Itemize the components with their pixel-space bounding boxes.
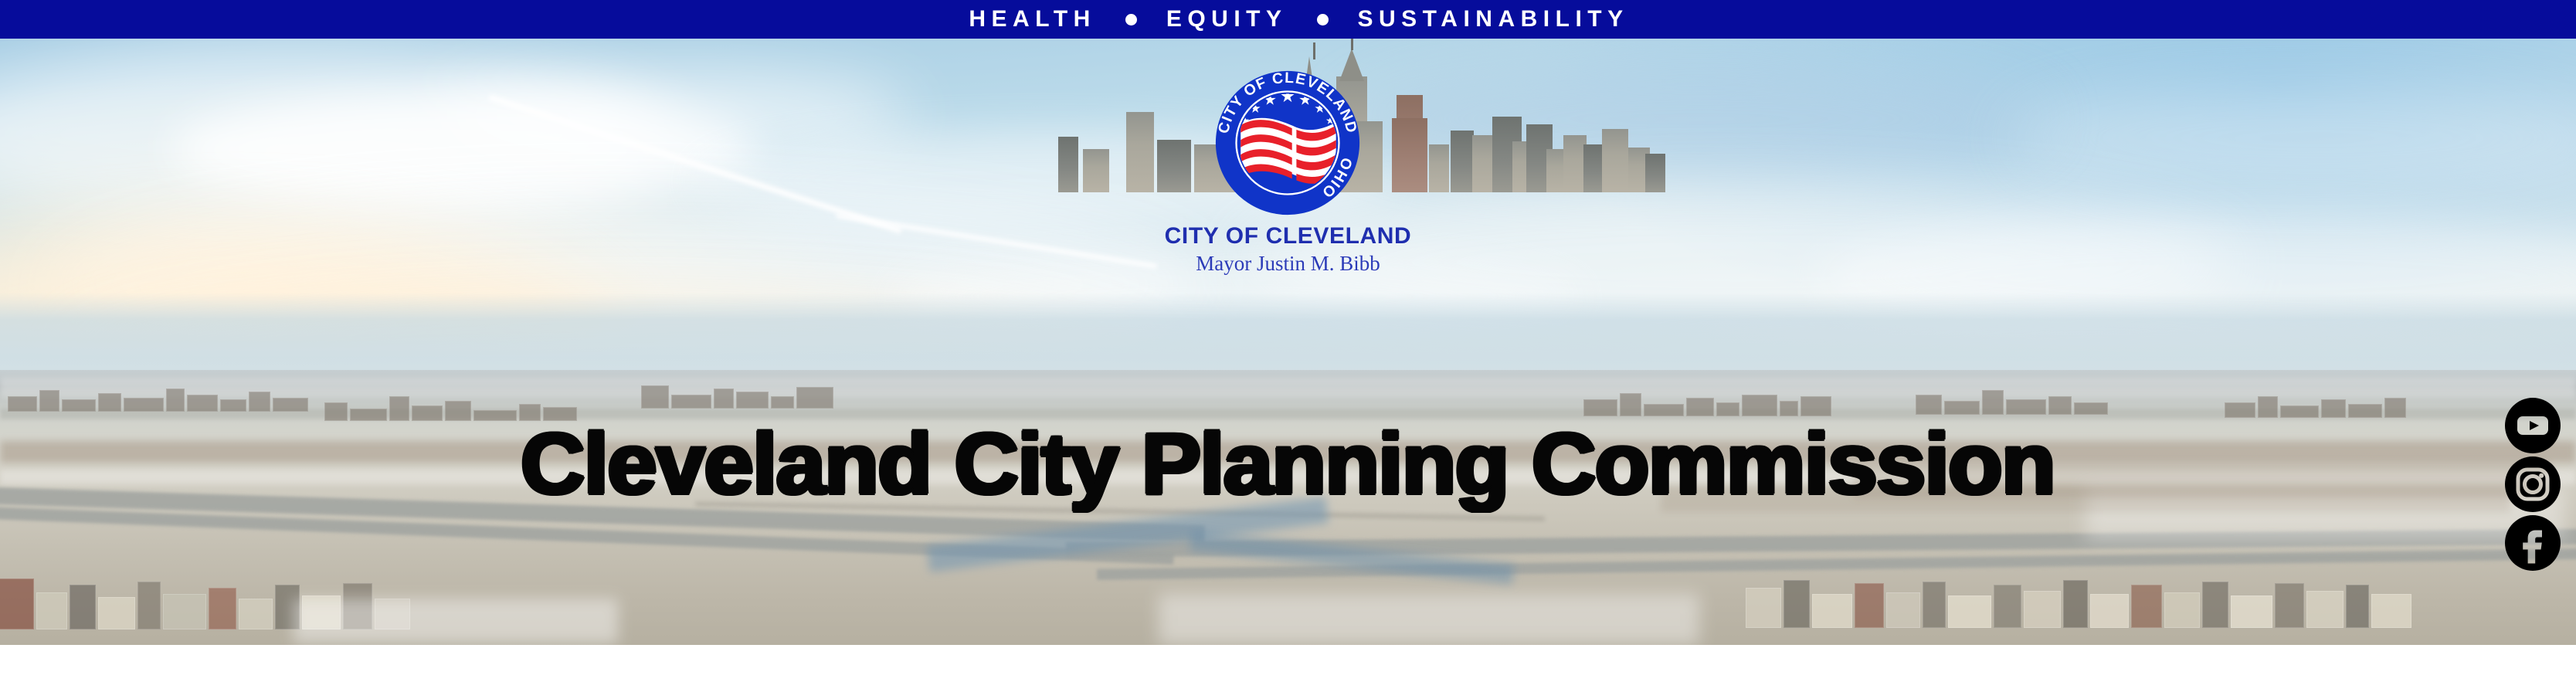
tagline-word-health: HEALTH [969,8,1095,31]
tagline-inner: HEALTH EQUITY SUSTAINABILITY [969,8,1628,31]
city-of-cleveland-seal-icon: CITY OF CLEVELAND OHIO [1214,70,1361,216]
facebook-icon[interactable] [2504,514,2561,572]
tagline-banner: HEALTH EQUITY SUSTAINABILITY [0,0,2576,39]
winter-cityscape-ground [0,370,2576,645]
page-root: HEALTH EQUITY SUSTAINABILITY [0,0,2576,682]
seal-caption: CITY OF CLEVELAND Mayor Justin M. Bibb [0,224,2576,277]
youtube-icon[interactable] [2504,397,2561,454]
social-links-rail [2503,397,2562,572]
organization-name: CITY OF CLEVELAND [0,224,2576,249]
tagline-word-equity: EQUITY [1166,8,1288,31]
bullet-dot-icon [1317,14,1329,25]
tagline-word-sustainability: SUSTAINABILITY [1358,8,1629,31]
bottom-white-margin [0,645,2576,682]
instagram-icon[interactable] [2504,456,2561,513]
mayor-name: Mayor Justin M. Bibb [0,251,2576,277]
bullet-dot-icon [1125,14,1137,25]
